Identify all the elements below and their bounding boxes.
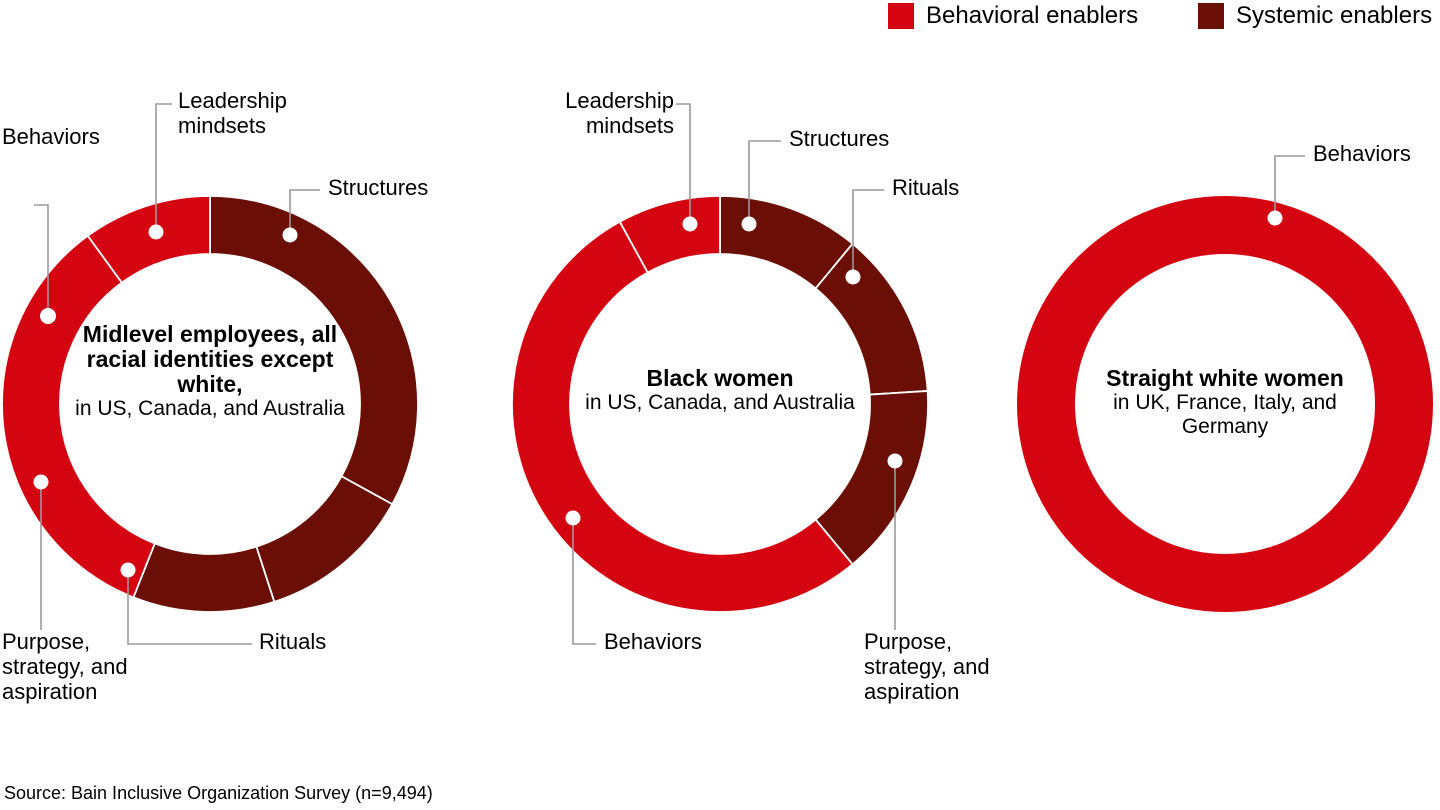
chart-2-center-text: Black women in US, Canada, and Australia <box>570 366 870 415</box>
chart-1-center-text: Midlevel employees, all racial identitie… <box>60 322 360 421</box>
donut-segment-behaviors[interactable] <box>512 222 853 612</box>
leader-dot-c1-structures <box>283 228 298 243</box>
callout-c1-leadership-mindsets: Leadership mindsets <box>178 88 287 138</box>
chart-3-center-title: Straight white women <box>1075 366 1375 391</box>
chart-2-center-title: Black women <box>570 366 870 391</box>
leader-dot-c2-purpose <box>888 454 903 469</box>
callout-c2-rituals: Rituals <box>892 175 959 200</box>
callout-c2-behaviors: Behaviors <box>604 629 702 654</box>
callout-c2-purpose: Purpose, strategy, and aspiration <box>864 629 990 704</box>
callout-c1-structures: Structures <box>328 175 428 200</box>
chart-page: Behavioral enablers Systemic enablers <box>0 0 1440 810</box>
donut-segment-purpose-strategy-and-aspiration[interactable] <box>816 391 928 564</box>
chart-3-center-subtitle: in UK, France, Italy, and Germany <box>1075 391 1375 439</box>
callout-c2-leadership-mindsets: Leadership mindsets <box>548 88 674 138</box>
callout-c1-behaviors: Behaviors <box>2 124 100 149</box>
leader-dot-c1-rituals <box>121 563 136 578</box>
chart-1-center-subtitle: in US, Canada, and Australia <box>60 397 360 421</box>
donut-segment-purpose-strategy-and-aspiration[interactable] <box>133 543 274 612</box>
leader-dot-c1-purpose <box>34 475 49 490</box>
leader-dot-c2-leadership-mindsets <box>683 217 698 232</box>
leader-dot-c3-behaviors <box>1268 211 1283 226</box>
leader-dot-c2-structures <box>742 217 757 232</box>
callout-c1-rituals: Rituals <box>259 629 326 654</box>
callout-c3-behaviors: Behaviors <box>1313 141 1411 166</box>
source-note: Source: Bain Inclusive Organization Surv… <box>4 782 433 804</box>
callout-c2-structures: Structures <box>789 126 889 151</box>
leader-dot-c2-rituals <box>846 270 861 285</box>
chart-2-center-subtitle: in US, Canada, and Australia <box>570 391 870 415</box>
callout-c1-purpose: Purpose, strategy, and aspiration <box>2 629 128 704</box>
chart-3-center-text: Straight white women in UK, France, Ital… <box>1075 366 1375 439</box>
chart-1-center-title: Midlevel employees, all racial identitie… <box>60 322 360 397</box>
donut-segment-rituals[interactable] <box>256 476 392 602</box>
leader-dot-c1-behaviors <box>41 309 56 324</box>
leader-dot-c2-behaviors <box>566 511 581 526</box>
leader-dot-c1-leadership-mindsets <box>149 225 164 240</box>
